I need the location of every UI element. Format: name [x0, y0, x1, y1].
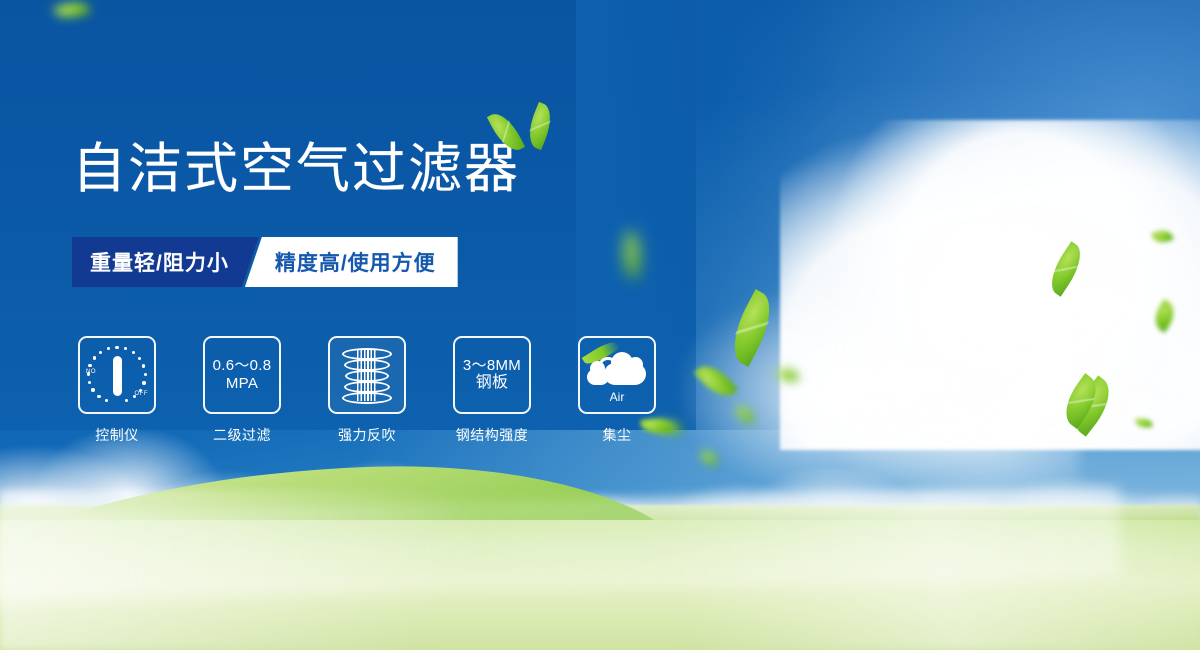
steel-plate-text: 钢板	[476, 374, 509, 393]
title-block: 自洁式空气过滤器	[72, 142, 520, 196]
feature-icon-box: NO OFF	[78, 336, 156, 414]
feature-icon-box: 3～8MM 钢板	[453, 336, 531, 414]
subtitle-tag-primary: 重量轻/阻力小	[72, 237, 259, 287]
sprout-leaf-left-icon	[487, 108, 525, 156]
feature-icon-box	[328, 336, 406, 414]
product-hero-banner: 自洁式空气过滤器 重量轻/阻力小 精度高/使用方便	[0, 0, 1200, 650]
dial-needle	[113, 356, 122, 396]
sprout-leaf-right-icon	[522, 102, 557, 150]
feature-caption: 二级过滤	[213, 425, 271, 445]
dial-label-off: OFF	[135, 391, 149, 398]
dial-label-no: NO	[86, 369, 96, 376]
feature-item-steel-strength[interactable]: 3～8MM 钢板 钢结构强度	[453, 336, 531, 445]
feature-icon-box: Air	[578, 336, 656, 414]
pressure-range-text: 0.6～0.8	[213, 357, 272, 375]
air-cloud-icon: Air	[586, 349, 648, 401]
feature-caption: 控制仪	[95, 425, 139, 445]
sprout-leaves-decoration	[482, 102, 572, 158]
pressure-unit-text: MPA	[226, 375, 258, 393]
coil-filter-icon	[339, 346, 395, 404]
feature-item-secondary-filter[interactable]: 0.6～0.8 MPA 二级过滤	[203, 336, 281, 445]
subtitle-tag-bar: 重量轻/阻力小 精度高/使用方便	[72, 237, 458, 287]
subtitle-tag-secondary: 精度高/使用方便	[245, 237, 458, 287]
steel-thickness-text: 3～8MM	[463, 357, 521, 375]
feature-item-controller[interactable]: NO OFF 控制仪	[78, 336, 156, 445]
feature-icon-row: NO OFF 控制仪 0.6～0.8 MPA 二级过滤	[78, 336, 656, 445]
air-label: Air	[586, 390, 648, 404]
feature-item-backblow[interactable]: 强力反吹	[328, 336, 406, 445]
cloud-shape-small	[587, 369, 609, 385]
feature-caption: 钢结构强度	[456, 425, 529, 445]
feature-caption: 集尘	[603, 425, 632, 445]
dial-gauge-icon: NO OFF	[87, 345, 147, 405]
feature-caption: 强力反吹	[338, 425, 396, 445]
cloud-shape-large	[604, 363, 646, 385]
page-title: 自洁式空气过滤器	[72, 142, 520, 196]
feature-icon-box: 0.6～0.8 MPA	[203, 336, 281, 414]
